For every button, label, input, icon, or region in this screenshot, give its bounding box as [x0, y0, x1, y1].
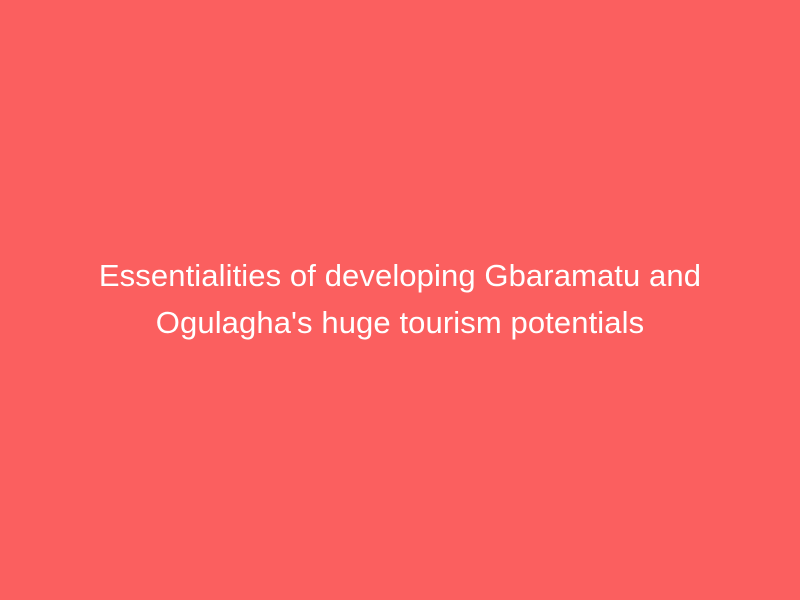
title-block: Essentialities of developing Gbaramatu a… [80, 252, 720, 346]
page-title: Essentialities of developing Gbaramatu a… [80, 252, 720, 346]
title-card: Essentialities of developing Gbaramatu a… [0, 0, 800, 600]
